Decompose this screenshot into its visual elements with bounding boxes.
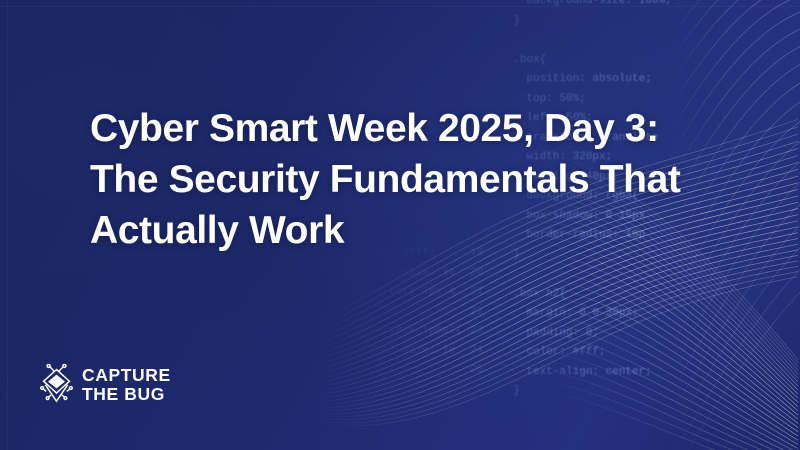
title-line-1: Cyber Smart Week 2025, Day 3: [90, 103, 730, 154]
brand-logo-line-2: THE BUG [82, 385, 171, 404]
background-code-line-numbers: 19 20 21 22 23 24 25 [470, 244, 483, 381]
brand-logo-line-1: CAPTURE [82, 366, 171, 385]
background-code-secondary: color: #fff; font-size: 1e border: 2px s… [330, 244, 462, 361]
brand-logo-text: CAPTURE THE BUG [82, 366, 171, 403]
left-edge-line [7, 0, 8, 450]
top-edge-line [0, 6, 800, 7]
promo-banner: background-size: 100%; } .box{ position:… [0, 0, 800, 450]
capture-the-bug-mark-icon [40, 364, 73, 405]
title-line-3: Actually Work [90, 205, 730, 256]
brand-logo[interactable]: CAPTURE THE BUG [40, 364, 171, 405]
banner-title: Cyber Smart Week 2025, Day 3: The Securi… [90, 103, 730, 256]
title-line-2: The Security Fundamentals That [90, 154, 730, 205]
